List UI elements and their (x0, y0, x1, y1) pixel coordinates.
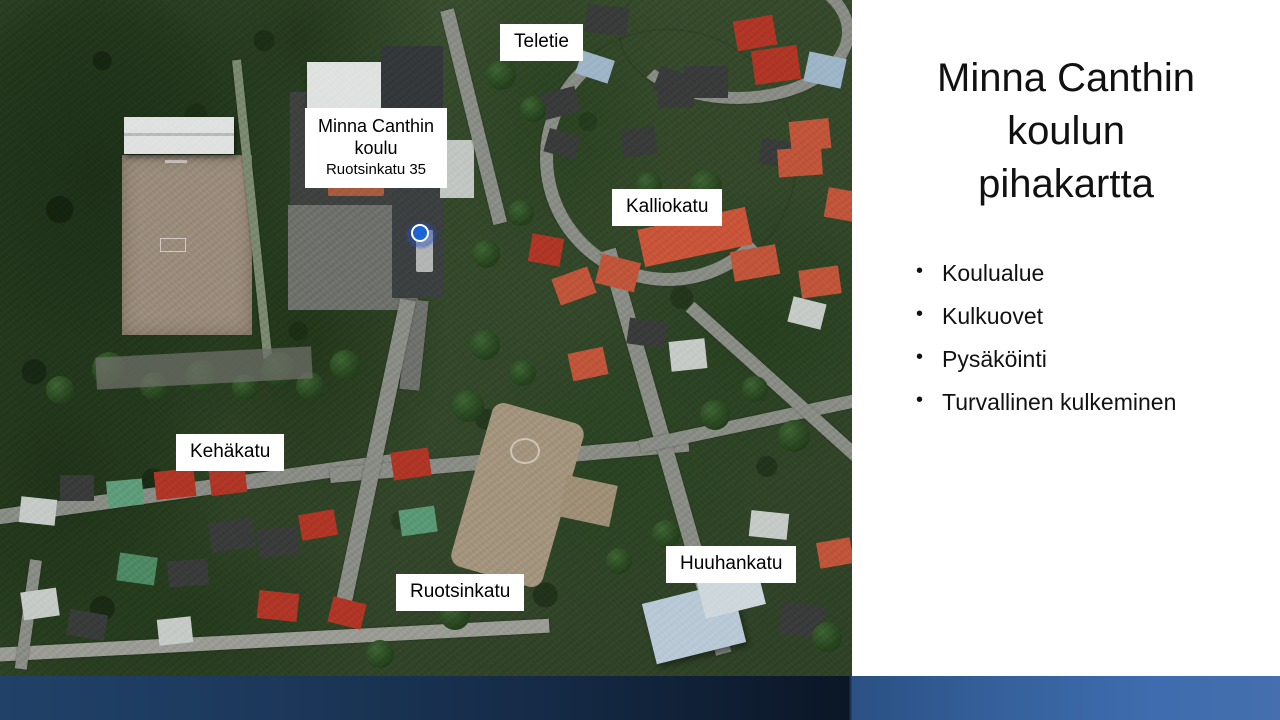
slide-bullet-list: Koulualue Kulkuovet Pysäköinti Turvallin… (912, 262, 1272, 434)
slide: Minna Canthin koulu Ruotsinkatu 35 Telet… (0, 0, 1280, 720)
bullet-label: Turvallinen kulkeminen (942, 389, 1176, 415)
bullet-label: Koulualue (942, 260, 1044, 286)
aerial-map-image[interactable]: Minna Canthin koulu Ruotsinkatu 35 Telet… (0, 0, 852, 676)
bullet-item-pysakointi: Pysäköinti (912, 348, 1272, 371)
bullet-label: Pysäköinti (942, 346, 1047, 372)
street-label-kehakatu[interactable]: Kehäkatu (176, 434, 284, 471)
street-label-teletie-text: Teletie (514, 31, 569, 52)
street-label-ruotsinkatu-text: Ruotsinkatu (410, 581, 510, 602)
bullet-item-turvallinen-kulkeminen: Turvallinen kulkeminen (912, 391, 1272, 414)
bullet-item-kulkuovet: Kulkuovet (912, 305, 1272, 328)
bullet-label: Kulkuovet (942, 303, 1043, 329)
slide-title-line-2: koulun (870, 105, 1262, 158)
slide-title-line-1: Minna Canthin (870, 52, 1262, 105)
bullet-item-koulualue: Koulualue (912, 262, 1272, 285)
street-label-ruotsinkatu[interactable]: Ruotsinkatu (396, 574, 524, 611)
street-label-kehakatu-text: Kehäkatu (190, 441, 270, 462)
school-callout[interactable]: Minna Canthin koulu Ruotsinkatu 35 (305, 108, 447, 188)
street-label-teletie[interactable]: Teletie (500, 24, 583, 61)
school-callout-address: Ruotsinkatu 35 (317, 161, 435, 179)
street-label-kalliokatu[interactable]: Kalliokatu (612, 189, 722, 226)
street-label-huuhankatu[interactable]: Huuhankatu (666, 546, 796, 583)
school-callout-name-line1: Minna Canthin (317, 116, 435, 138)
slide-footer-bar (0, 676, 1280, 720)
slide-text-pane: Minna Canthin koulun pihakartta Koulualu… (852, 0, 1280, 676)
slide-title-line-3: pihakartta (870, 158, 1262, 211)
street-label-kalliokatu-text: Kalliokatu (626, 196, 708, 217)
school-callout-name-line2: koulu (317, 138, 435, 160)
slide-title: Minna Canthin koulun pihakartta (870, 52, 1262, 210)
street-label-huuhankatu-text: Huuhankatu (680, 553, 782, 574)
